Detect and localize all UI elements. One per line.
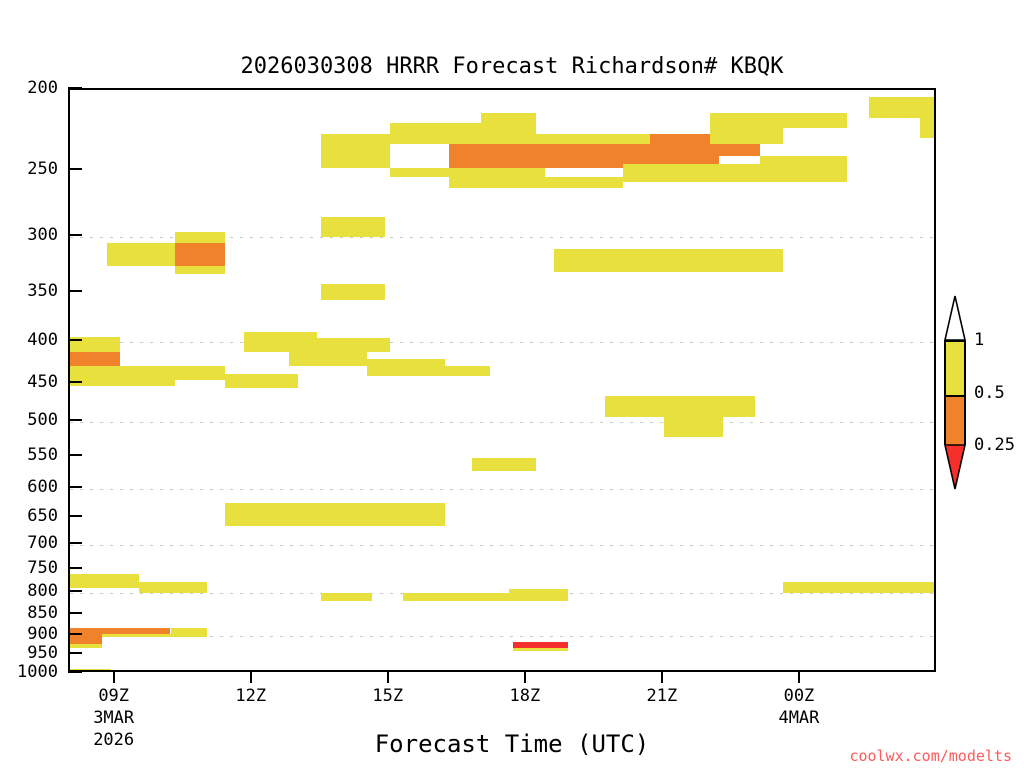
y-axis-tick-label: 800 xyxy=(27,581,58,601)
heatmap-cell xyxy=(449,168,545,188)
y-axis-tick xyxy=(68,486,82,488)
heatmap-cell xyxy=(481,113,536,144)
y-axis-labels: 2002503003504004505005506006507007508008… xyxy=(0,88,68,672)
y-axis-tick-label: 750 xyxy=(27,558,58,578)
heatmap-cell xyxy=(869,97,919,118)
y-axis-tick-label: 550 xyxy=(27,445,58,465)
colorbar-tick-label: 0.25 xyxy=(974,435,1015,455)
x-axis-tick-label: 15Z xyxy=(372,686,403,706)
y-axis-tick-label: 1000 xyxy=(17,662,58,682)
heatmap-cell xyxy=(719,144,760,156)
y-axis-ticks xyxy=(68,88,82,672)
x-axis-tick xyxy=(113,672,115,683)
y-axis-tick-label: 900 xyxy=(27,624,58,644)
x-axis-ticks: 09Z3MAR202612Z15Z18Z21Z00Z4MAR xyxy=(68,672,936,684)
y-axis-tick-label: 200 xyxy=(27,78,58,98)
heatmap-cell xyxy=(175,243,225,266)
y-axis-tick xyxy=(68,515,82,517)
heatmap-cell xyxy=(390,168,449,177)
y-axis-tick xyxy=(68,234,82,236)
y-axis-tick xyxy=(68,652,82,654)
x-axis-tick xyxy=(387,672,389,683)
heatmap-cell xyxy=(139,582,208,594)
colorbar-segment xyxy=(946,395,964,450)
y-axis-tick xyxy=(68,419,82,421)
y-axis-tick xyxy=(68,381,82,383)
gridline xyxy=(70,342,934,343)
heatmap-cell xyxy=(472,458,536,471)
gridline xyxy=(70,545,934,546)
colorbar-legend: 10.50.25 xyxy=(940,290,970,490)
colorbar-tick-label: 0.5 xyxy=(974,383,1005,403)
y-axis-tick xyxy=(68,87,82,89)
heatmap-cell xyxy=(321,217,385,237)
x-axis-date-label: 3MAR xyxy=(93,708,134,728)
colorbar-under-arrow-icon xyxy=(944,444,966,490)
heatmap-cell xyxy=(175,232,225,243)
y-axis-tick xyxy=(68,542,82,544)
y-axis-tick xyxy=(68,567,82,569)
heatmap-cell xyxy=(321,134,390,168)
heatmap-cell xyxy=(623,164,760,183)
x-axis-tick xyxy=(524,672,526,683)
x-axis-tick xyxy=(798,672,800,683)
chart-page: 2026030308 HRRR Forecast Richardson# KBQ… xyxy=(0,0,1024,768)
gridline xyxy=(70,422,934,423)
colorbar-over-arrow-icon xyxy=(944,295,966,341)
y-axis-tick-label: 850 xyxy=(27,603,58,623)
y-axis-tick-label: 950 xyxy=(27,643,58,663)
heatmap-cell xyxy=(783,582,936,594)
heatmap-cell xyxy=(321,284,385,301)
y-axis-tick xyxy=(68,590,82,592)
chart-title: 2026030308 HRRR Forecast Richardson# KBQ… xyxy=(0,54,1024,79)
x-axis-tick-label: 12Z xyxy=(235,686,266,706)
heatmap-cell xyxy=(244,332,317,352)
heatmap-cell xyxy=(513,648,568,651)
heatmap-cell xyxy=(664,249,783,272)
heatmap-cell xyxy=(783,113,847,128)
y-axis-tick-label: 400 xyxy=(27,330,58,350)
y-axis-tick-label: 250 xyxy=(27,159,58,179)
heatmap-cell xyxy=(403,593,508,601)
heatmap-cell xyxy=(545,177,623,188)
x-axis-tick-label: 00Z xyxy=(784,686,815,706)
y-axis-tick xyxy=(68,290,82,292)
y-axis-tick-label: 350 xyxy=(27,281,58,301)
y-axis-tick-label: 600 xyxy=(27,477,58,497)
colorbar-tick-label: 1 xyxy=(974,330,984,350)
x-axis-tick-label: 18Z xyxy=(509,686,540,706)
watermark: coolwx.com/modelts xyxy=(849,747,1012,765)
x-axis-tick-label: 09Z xyxy=(98,686,129,706)
colorbar-body xyxy=(944,340,966,445)
heatmap-cell xyxy=(664,417,723,437)
heatmap-cell xyxy=(445,366,491,376)
y-axis-tick-label: 500 xyxy=(27,410,58,430)
heatmap-cell xyxy=(175,266,225,274)
heatmap-cell xyxy=(317,338,390,352)
heatmap-cell xyxy=(289,352,367,366)
y-axis-tick-label: 450 xyxy=(27,372,58,392)
heatmap-cell xyxy=(554,249,664,272)
y-axis-tick-label: 700 xyxy=(27,533,58,553)
colorbar-segment xyxy=(946,342,964,395)
y-axis-tick-label: 300 xyxy=(27,225,58,245)
heatmap-cell xyxy=(605,396,756,416)
y-axis-tick xyxy=(68,454,82,456)
heatmap-cell xyxy=(449,145,545,151)
heatmap-cell xyxy=(321,593,371,601)
heatmap-cell xyxy=(390,123,481,144)
x-axis-tick-label: 21Z xyxy=(647,686,678,706)
x-axis-date-label: 4MAR xyxy=(778,708,819,728)
heatmap-cell xyxy=(225,374,298,388)
x-axis-tick xyxy=(661,672,663,683)
heatmap-cell xyxy=(760,156,847,182)
heatmap-cell xyxy=(509,589,568,601)
heatmap-cell xyxy=(102,634,207,637)
heatmap-cell xyxy=(920,97,936,137)
heatmap-cell xyxy=(367,359,445,376)
y-axis-tick-label: 650 xyxy=(27,506,58,526)
gridline xyxy=(70,489,934,490)
plot-area xyxy=(68,88,936,672)
y-axis-tick xyxy=(68,168,82,170)
heatmap-cell xyxy=(175,366,225,380)
x-axis-tick xyxy=(250,672,252,683)
heatmap-cell xyxy=(107,243,176,258)
heatmap-cell xyxy=(710,113,783,144)
heatmap-cell xyxy=(70,366,175,386)
heatmap-cell xyxy=(225,503,444,526)
heatmap-cell xyxy=(107,258,176,266)
plot-canvas xyxy=(70,90,934,670)
y-axis-tick xyxy=(68,633,82,635)
y-axis-tick xyxy=(68,339,82,341)
y-axis-tick xyxy=(68,612,82,614)
